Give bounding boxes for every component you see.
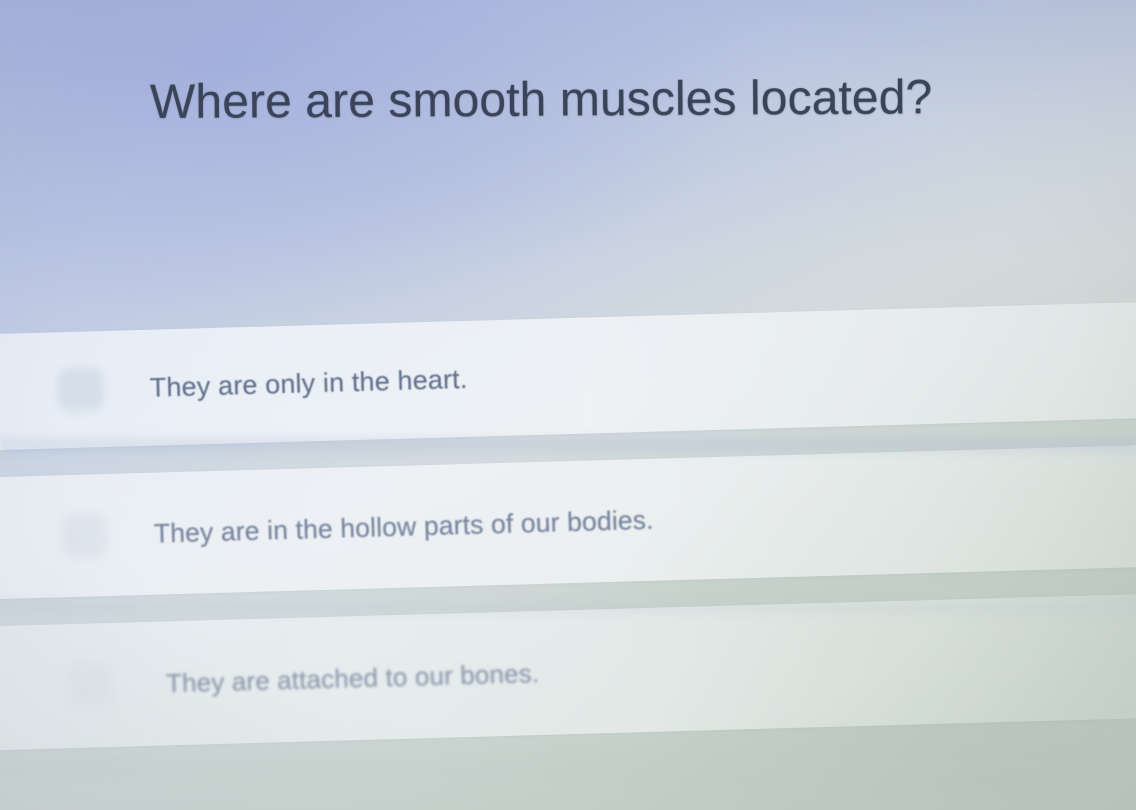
- photo-vignette: [0, 0, 1136, 810]
- quiz-screen-photo: Where are smooth muscles located? They a…: [0, 0, 1136, 810]
